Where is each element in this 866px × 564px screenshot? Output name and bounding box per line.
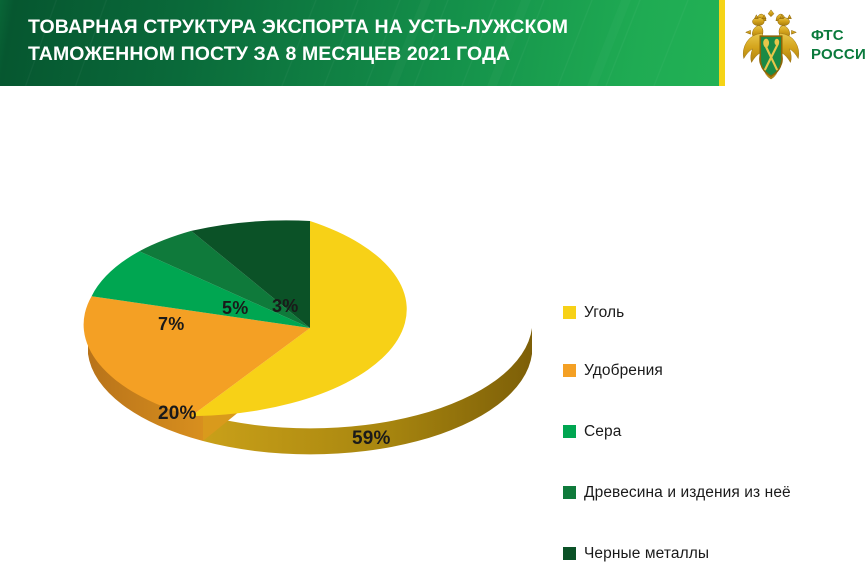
pie-value-label-ugol: 59% (352, 428, 391, 450)
pie-chart-3d (70, 188, 550, 478)
legend-item-drevesina[interactable]: Древесина и издения из неё (563, 483, 853, 503)
legend-item-label: Древесина и издения из неё (584, 483, 791, 503)
legend-swatch-icon (563, 547, 576, 560)
legend-item-udobreniya[interactable]: Удобрения (563, 361, 853, 381)
legend-item-sera[interactable]: Сера (563, 422, 853, 442)
header-accent-stripe (719, 0, 725, 86)
fts-logo-text: ФТС РОССИИ (811, 26, 866, 64)
legend-swatch-icon (563, 306, 576, 319)
legend-item-label: Сера (584, 422, 621, 442)
legend-item-label: Уголь (584, 303, 624, 323)
fts-logo-line2: РОССИИ (811, 45, 866, 64)
pie-value-label-chernye-metally: 3% (272, 296, 298, 317)
page-title: ТОВАРНАЯ СТРУКТУРА ЭКСПОРТА НА УСТЬ-ЛУЖС… (28, 14, 688, 68)
fts-logo-line1: ФТС (811, 26, 866, 45)
page-header: ТОВАРНАЯ СТРУКТУРА ЭКСПОРТА НА УСТЬ-ЛУЖС… (0, 0, 866, 88)
chart-area: 59% 20% 7% 5% 3% Уголь Удобрения Сера Др… (0, 88, 866, 493)
fts-logo: ФТС РОССИИ (735, 6, 863, 84)
legend-swatch-icon (563, 364, 576, 377)
double-headed-eagle-icon (735, 6, 807, 82)
pie-value-label-sera: 7% (158, 314, 184, 335)
legend-item-chernye-metally[interactable]: Черные металлы (563, 544, 853, 564)
legend-item-label: Удобрения (584, 361, 663, 381)
pie-value-label-udobreniya: 20% (158, 403, 197, 425)
legend-item-ugol[interactable]: Уголь (563, 303, 853, 323)
legend-swatch-icon (563, 425, 576, 438)
pie-value-label-drevesina: 5% (222, 298, 248, 319)
legend-item-label: Черные металлы (584, 544, 709, 564)
